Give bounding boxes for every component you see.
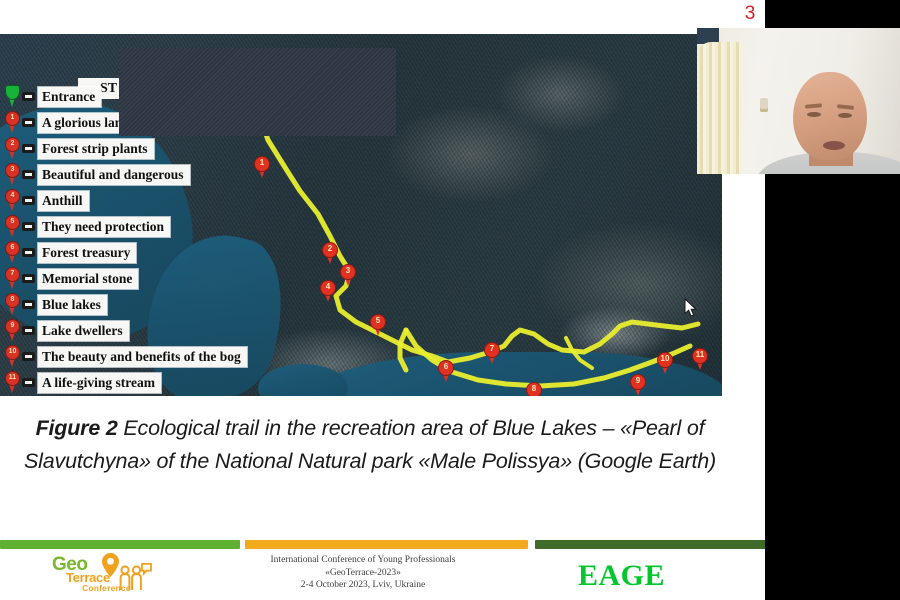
legend-connector-icon (22, 378, 35, 387)
conference-datetime: 2-4 October 2023, Lviv, Ukraine (228, 579, 498, 592)
legend-connector-icon (22, 352, 35, 361)
map-pin-number: 6 (438, 361, 454, 373)
map-pin-number: 3 (340, 265, 356, 277)
legend-item-10[interactable]: 10 The beauty and benefits of the bog (4, 344, 324, 369)
legend-item-2[interactable]: 2 Forest strip plants (4, 136, 324, 161)
legend-item-label: Anthill (38, 191, 89, 211)
numbered-pin-icon: 2 (4, 137, 21, 160)
map-pin-number: 9 (630, 375, 646, 387)
eage-logo: EAGE (578, 560, 665, 592)
legend-item-label: Blue lakes (38, 295, 107, 315)
legend-item-label: Entrance (38, 87, 101, 107)
people-icon (118, 563, 152, 591)
footer-bar-orange (245, 540, 528, 549)
entrance-marker-icon (4, 85, 21, 108)
figure-number: Figure 2 (36, 416, 118, 440)
legend-item-label: The beauty and benefits of the bog (38, 347, 247, 367)
figure-caption-text: Ecological trail in the recreation area … (24, 416, 716, 473)
numbered-pin-icon: 3 (4, 163, 21, 186)
legend-item-label: Lake dwellers (38, 321, 129, 341)
legend-item-label: Beautiful and dangerous (38, 165, 190, 185)
map-pin-number: 11 (692, 349, 708, 361)
map-pin-number: 8 (526, 383, 542, 395)
legend-connector-icon (22, 222, 35, 231)
map-pin-number: 7 (484, 343, 500, 355)
conference-title: International Conference of Young Profes… (228, 554, 498, 567)
legend-connector-icon (22, 274, 35, 283)
map-pin-3[interactable]: 3 (340, 264, 356, 286)
footer-bar-dark-green (535, 540, 765, 549)
legend-item-label: Memorial stone (38, 269, 138, 289)
video-background-outlet (760, 98, 768, 112)
legend-connector-icon (22, 92, 35, 101)
footer-color-bars (0, 540, 765, 549)
participant-eye-left (807, 112, 821, 117)
video-background-curtain (697, 42, 741, 174)
satellite-map-figure: 1 2 3 4 5 (0, 34, 722, 396)
numbered-pin-icon: 1 (4, 111, 21, 134)
participant-video-tile[interactable] (697, 28, 900, 174)
map-pin-5[interactable]: 5 (370, 314, 386, 336)
legend-connector-icon (22, 170, 35, 179)
legend-connector-icon (22, 144, 35, 153)
map-pin-2[interactable]: 2 (322, 242, 338, 264)
participant-eye-right (838, 113, 852, 118)
legend-item-6[interactable]: 6 Forest treasury (4, 240, 324, 265)
map-pin-7[interactable]: 7 (484, 342, 500, 364)
legend-item-9[interactable]: 9 Lake dwellers (4, 318, 324, 343)
presentation-slide: 1 2 3 4 5 (0, 0, 765, 600)
map-pin-10[interactable]: 10 (657, 352, 673, 374)
numbered-pin-icon: 8 (4, 293, 21, 316)
participant-mouth (823, 141, 845, 150)
screen-share-view: 1 2 3 4 5 (0, 0, 900, 600)
legend-connector-icon (22, 196, 35, 205)
map-pin-number: 5 (370, 315, 386, 327)
legend-item-8[interactable]: 8 Blue lakes (4, 292, 324, 317)
legend-item-label: A life-giving stream (38, 373, 161, 393)
legend-item-3[interactable]: 3 Beautiful and dangerous (4, 162, 324, 187)
map-pin-8[interactable]: 8 (526, 382, 542, 396)
footer-bar-green (0, 540, 240, 549)
map-pin-6[interactable]: 6 (438, 360, 454, 382)
map-pin-11[interactable]: 11 (692, 348, 708, 370)
numbered-pin-icon: 6 (4, 241, 21, 264)
map-pin-number: 10 (657, 353, 673, 365)
legend-item-11[interactable]: 11 A life-giving stream (4, 370, 324, 395)
numbered-pin-icon: 10 (4, 345, 21, 368)
figure-caption: Figure 2 Ecological trail in the recreat… (20, 412, 720, 478)
numbered-pin-icon: 11 (4, 371, 21, 394)
location-marker-icon (102, 553, 119, 577)
legend-item-7[interactable]: 7 Memorial stone (4, 266, 324, 291)
obscured-overlay-panel (119, 48, 396, 136)
legend-connector-icon (22, 118, 35, 127)
slide-number: 3 (735, 3, 765, 25)
legend-item-label: Forest strip plants (38, 139, 154, 159)
conference-name: «GeoTerrace-2023» (228, 567, 498, 580)
numbered-pin-icon: 5 (4, 215, 21, 238)
legend-item-label: Forest treasury (38, 243, 136, 263)
numbered-pin-icon: 7 (4, 267, 21, 290)
numbered-pin-icon: 9 (4, 319, 21, 342)
legend-item-4[interactable]: 4 Anthill (4, 188, 324, 213)
legend-item-5[interactable]: 5 They need protection (4, 214, 324, 239)
legend-connector-icon (22, 300, 35, 309)
geoterrace-logo: Geo Terrace Conference (46, 553, 176, 598)
map-pin-9[interactable]: 9 (630, 374, 646, 396)
legend-item-label: They need protection (38, 217, 170, 237)
legend-connector-icon (22, 248, 35, 257)
map-pin-number: 2 (322, 243, 338, 255)
numbered-pin-icon: 4 (4, 189, 21, 212)
slide-footer: Geo Terrace Conference International Con… (0, 551, 765, 600)
footer-conference-info: International Conference of Young Profes… (228, 554, 498, 592)
legend-connector-icon (22, 326, 35, 335)
